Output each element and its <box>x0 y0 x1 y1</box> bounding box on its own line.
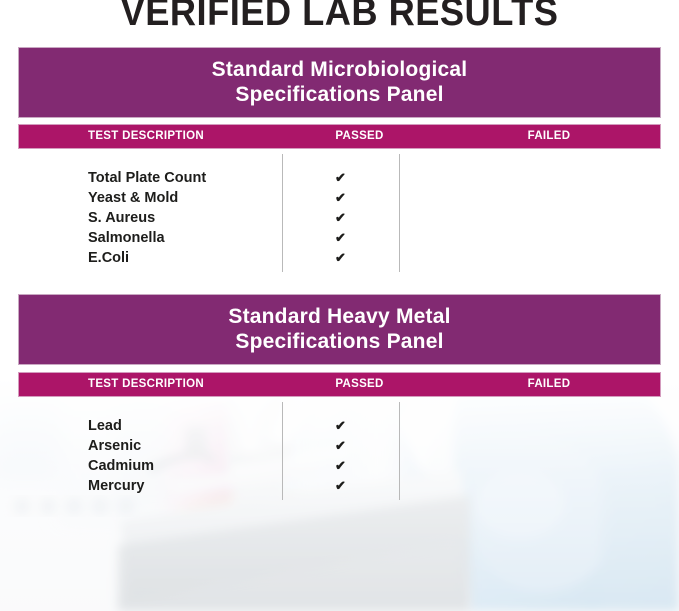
table-row: Cadmium ✔ <box>18 458 661 478</box>
passed-check-icon: ✔ <box>282 250 399 266</box>
panel-banner-microbiological: Standard Microbiological Specifications … <box>18 47 661 118</box>
table-row: E.Coli ✔ <box>18 250 661 270</box>
passed-check-icon: ✔ <box>282 190 399 206</box>
test-name: Arsenic <box>88 438 141 454</box>
passed-check-icon: ✔ <box>282 438 399 454</box>
column-header-failed: FAILED <box>418 130 679 142</box>
column-header-bar-microbiological: TEST DESCRIPTION PASSED FAILED <box>18 124 661 149</box>
column-header-passed: PASSED <box>301 378 418 390</box>
panel-title-line2: Specifications Panel <box>19 329 660 354</box>
table-row: S. Aureus ✔ <box>18 210 661 230</box>
passed-check-icon: ✔ <box>282 478 399 494</box>
panel-title-line1: Standard Microbiological <box>19 57 660 82</box>
table-row: Yeast & Mold ✔ <box>18 190 661 210</box>
panel-title-line1: Standard Heavy Metal <box>19 304 660 329</box>
page-title: VERIFIED LAB RESULTS <box>24 0 655 35</box>
panel-banner-heavy-metal: Standard Heavy Metal Specifications Pane… <box>18 294 661 365</box>
results-table-heavy-metal: Lead ✔ Arsenic ✔ Cadmium ✔ Mercury ✔ <box>18 402 661 500</box>
passed-check-icon: ✔ <box>282 170 399 186</box>
table-row: Salmonella ✔ <box>18 230 661 250</box>
test-name: Total Plate Count <box>88 170 206 186</box>
table-row: Mercury ✔ <box>18 478 661 498</box>
column-header-passed: PASSED <box>301 130 418 142</box>
column-header-description: TEST DESCRIPTION <box>88 130 204 142</box>
passed-check-icon: ✔ <box>282 458 399 474</box>
test-name: S. Aureus <box>88 210 155 226</box>
passed-check-icon: ✔ <box>282 230 399 246</box>
test-name: Lead <box>88 418 122 434</box>
results-table-microbiological: Total Plate Count ✔ Yeast & Mold ✔ S. Au… <box>18 154 661 272</box>
passed-check-icon: ✔ <box>282 210 399 226</box>
test-name: E.Coli <box>88 250 129 266</box>
test-name: Mercury <box>88 478 144 494</box>
table-row: Arsenic ✔ <box>18 438 661 458</box>
table-row: Lead ✔ <box>18 418 661 438</box>
panel-title-line2: Specifications Panel <box>19 82 660 107</box>
test-name: Salmonella <box>88 230 165 246</box>
test-name: Cadmium <box>88 458 154 474</box>
column-header-description: TEST DESCRIPTION <box>88 378 204 390</box>
column-header-bar-heavy-metal: TEST DESCRIPTION PASSED FAILED <box>18 372 661 397</box>
passed-check-icon: ✔ <box>282 418 399 434</box>
column-header-failed: FAILED <box>418 378 679 390</box>
table-row: Total Plate Count ✔ <box>18 170 661 190</box>
test-name: Yeast & Mold <box>88 190 178 206</box>
